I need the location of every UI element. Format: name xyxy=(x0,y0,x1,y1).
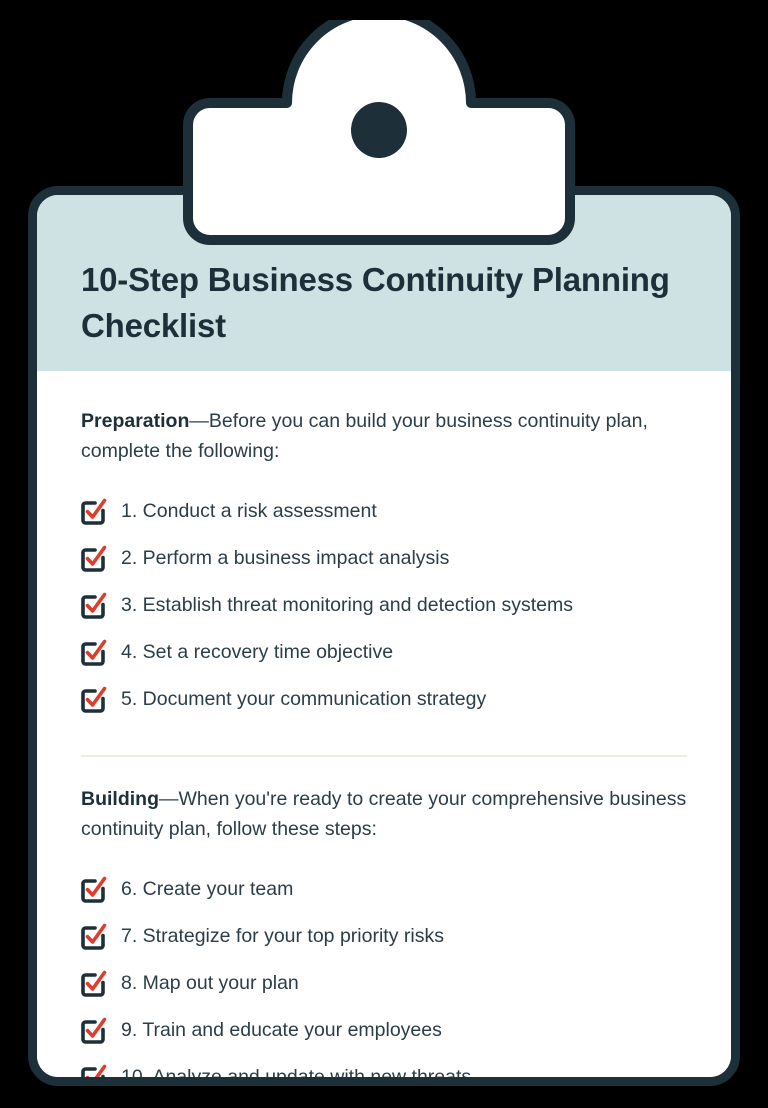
clipboard-board: 10-Step Business Continuity Planning Che… xyxy=(28,186,740,1086)
list-item-label: 4. Set a recovery time objective xyxy=(121,640,393,665)
checkbox-checked-icon[interactable] xyxy=(81,593,107,619)
list-item[interactable]: 8. Map out your plan xyxy=(81,961,687,1008)
list-item[interactable]: 3. Establish threat monitoring and detec… xyxy=(81,582,687,629)
checkbox-checked-icon[interactable] xyxy=(81,924,107,950)
list-item-label: 7. Strategize for your top priority risk… xyxy=(121,924,444,949)
clipboard-clip xyxy=(183,20,575,245)
list-item[interactable]: 10. Analyze and update with new threats xyxy=(81,1055,687,1087)
checklist-building: 6. Create your team 7. Strategize for yo… xyxy=(81,867,687,1087)
list-item-label: 2. Perform a business impact analysis xyxy=(121,546,449,571)
list-item-label: 1. Conduct a risk assessment xyxy=(121,499,377,524)
list-item-label: 9. Train and educate your employees xyxy=(121,1018,442,1043)
section-intro-building: Building—When you're ready to create you… xyxy=(81,785,687,844)
checkbox-checked-icon[interactable] xyxy=(81,687,107,713)
checkbox-checked-icon[interactable] xyxy=(81,1018,107,1044)
list-item-label: 8. Map out your plan xyxy=(121,971,299,996)
list-item[interactable]: 1. Conduct a risk assessment xyxy=(81,488,687,535)
checkbox-checked-icon[interactable] xyxy=(81,499,107,525)
list-item[interactable]: 4. Set a recovery time objective xyxy=(81,629,687,676)
list-item[interactable]: 7. Strategize for your top priority risk… xyxy=(81,914,687,961)
section-divider xyxy=(81,755,687,757)
list-item[interactable]: 6. Create your team xyxy=(81,867,687,914)
section-lead-building: Building xyxy=(81,788,159,810)
list-item[interactable]: 5. Document your communication strategy xyxy=(81,676,687,723)
section-lead-preparation: Preparation xyxy=(81,410,189,432)
infographic-stage: 10-Step Business Continuity Planning Che… xyxy=(0,0,768,1108)
section-dash-building: — xyxy=(159,788,179,810)
checkbox-checked-icon[interactable] xyxy=(81,971,107,997)
page-title: 10-Step Business Continuity Planning Che… xyxy=(81,257,687,348)
board-body: Preparation—Before you can build your bu… xyxy=(37,371,731,1086)
clip-hole-circle xyxy=(351,102,407,158)
checkbox-checked-icon[interactable] xyxy=(81,640,107,666)
list-item-label: 5. Document your communication strategy xyxy=(121,687,486,712)
list-item-label: 3. Establish threat monitoring and detec… xyxy=(121,593,573,618)
checkbox-checked-icon[interactable] xyxy=(81,546,107,572)
section-dash-preparation: — xyxy=(189,410,209,432)
checklist-preparation: 1. Conduct a risk assessment 2. Perform … xyxy=(81,488,687,723)
section-intro-preparation: Preparation—Before you can build your bu… xyxy=(81,407,687,466)
list-item-label: 6. Create your team xyxy=(121,877,293,902)
checkbox-checked-icon[interactable] xyxy=(81,1065,107,1086)
list-item-label: 10. Analyze and update with new threats xyxy=(121,1065,471,1086)
checkbox-checked-icon[interactable] xyxy=(81,877,107,903)
list-item[interactable]: 9. Train and educate your employees xyxy=(81,1008,687,1055)
list-item[interactable]: 2. Perform a business impact analysis xyxy=(81,535,687,582)
